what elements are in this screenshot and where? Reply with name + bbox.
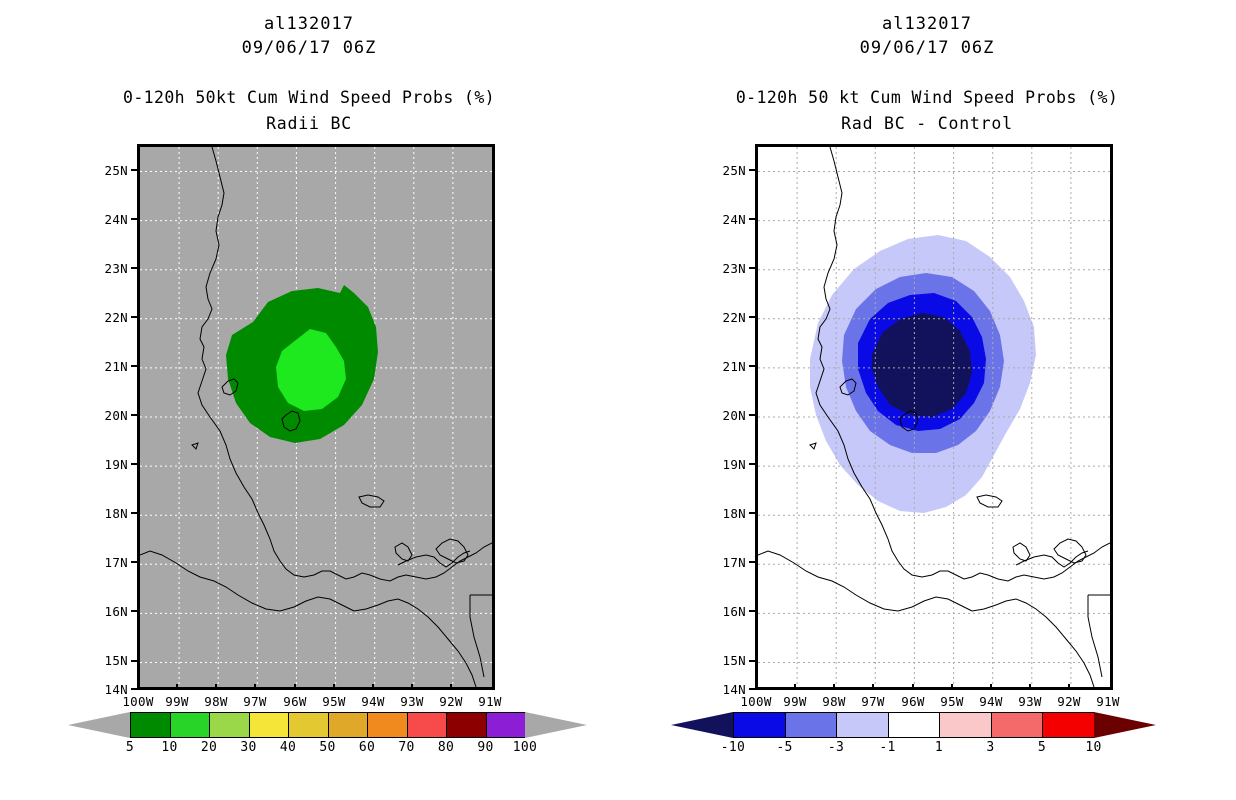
colorbar-right-segments [618,712,1236,738]
right-datetime: 09/06/17 06Z [618,38,1236,58]
colorbar-segment [209,712,249,738]
colorbar-segment [130,712,170,738]
colorbar-segment [288,712,328,738]
colorbar-tick-label: 50 [308,740,348,755]
colorbar-tick-label: 10 [1074,740,1114,755]
colorbar-tick-label: 20 [189,740,229,755]
colorbar-segment [407,712,447,738]
colorbar-tick-label: -3 [816,740,856,755]
colorbar-tick-label: 1 [919,740,959,755]
panel-left: al132017 09/06/17 06Z 0-120h 50kt Cum Wi… [0,0,618,800]
colorbar-tick-label: -10 [713,740,753,755]
colorbar-left[interactable]: 5102030405060708090100 [0,706,618,762]
left-storm-id: al132017 [0,14,618,34]
colorbar-segment [785,712,837,738]
colorbar-tick-label: 5 [110,740,150,755]
colorbar-extend-high-arrow [1094,712,1156,738]
colorbar-tick-label: 70 [387,740,427,755]
left-datetime: 09/06/17 06Z [0,38,618,58]
colorbar-extend-high-arrow [525,712,587,738]
map-right[interactable] [755,144,1113,690]
colorbar-tick-label: 60 [347,740,387,755]
colorbar-tick-label: 40 [268,740,308,755]
colorbar-extend-low-arrow [671,712,733,738]
right-title-sub: Rad BC - Control [618,114,1236,133]
colorbar-segment [888,712,940,738]
map-right-svg [758,147,1110,687]
colorbar-tick-label: 100 [505,740,545,755]
right-title-main: 0-120h 50 kt Cum Wind Speed Probs (%) [618,88,1236,107]
colorbar-tick-label: 10 [150,740,190,755]
colorbar-segment [991,712,1043,738]
map-left[interactable] [137,144,495,690]
colorbar-segment [733,712,785,738]
map-right-inner [758,147,1110,687]
colorbar-segment [446,712,486,738]
colorbar-segment [249,712,289,738]
left-title-main: 0-120h 50kt Cum Wind Speed Probs (%) [0,88,618,107]
colorbar-tick-label: -5 [765,740,805,755]
colorbar-tick-label: 30 [229,740,269,755]
colorbar-segment [1042,712,1094,738]
colorbar-tick-label: 80 [426,740,466,755]
colorbar-segment [486,712,526,738]
colorbar-extend-low-arrow [68,712,130,738]
colorbar-segment [836,712,888,738]
left-title-sub: Radii BC [0,114,618,133]
colorbar-tick-label: 3 [971,740,1011,755]
colorbar-tick-label: 5 [1022,740,1062,755]
panel-right: al132017 09/06/17 06Z 0-120h 50 kt Cum W… [618,0,1236,800]
colorbar-tick-label: 90 [466,740,506,755]
colorbar-right[interactable]: -10-5-3-113510 [618,706,1236,762]
map-left-svg [140,147,492,687]
colorbar-segment [328,712,368,738]
colorbar-segment [170,712,210,738]
gridlines-right [758,147,1110,687]
right-storm-id: al132017 [618,14,1236,34]
colorbar-tick-label: -1 [868,740,908,755]
colorbar-left-segments [0,712,618,738]
map-left-inner [140,147,492,687]
colorbar-segment [367,712,407,738]
colorbar-segment [939,712,991,738]
